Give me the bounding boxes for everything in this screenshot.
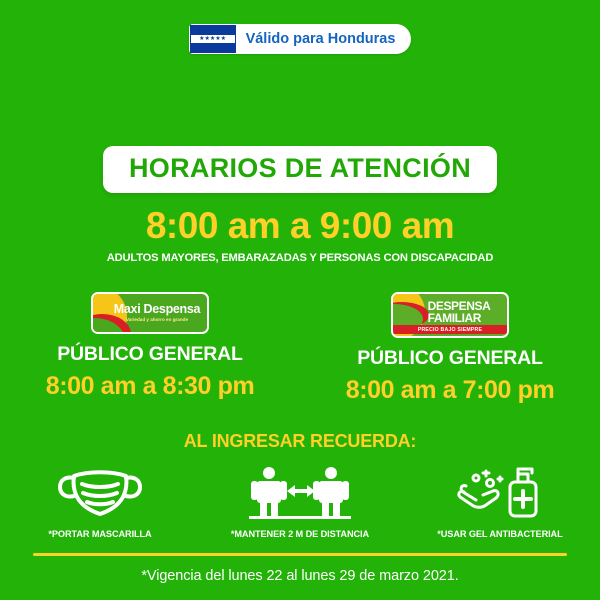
- priority-subtitle: ADULTOS MAYORES, EMBARAZADAS Y PERSONAS …: [0, 252, 600, 264]
- flag-band-top: [191, 26, 235, 35]
- priority-hours: 8:00 am a 9:00 am: [0, 206, 600, 247]
- page-title-pill: HORARIOS DE ATENCIÓN: [103, 146, 497, 193]
- store-despensa-familiar: DESPENSA FAMILIAR PRECIO BAJO SIEMPRE PÚ…: [300, 292, 600, 403]
- remember-title: AL INGRESAR RECUERDA:: [0, 431, 600, 452]
- df-line-2: FAMILIAR: [428, 313, 491, 325]
- maxi-despensa-name: Maxi Despensa: [114, 303, 200, 316]
- store-hours-maxi: 8:00 am a 8:30 pm: [46, 374, 255, 399]
- page-title: HORARIOS DE ATENCIÓN: [129, 155, 471, 182]
- footer-validity-note: *Vigencia del lunes 22 al lunes 29 de ma…: [0, 568, 600, 584]
- stores-row: Maxi Despensa Variedad y ahorro en grand…: [0, 292, 600, 403]
- reminder-caption-distance: *MANTENER 2 M DE DISTANCIA: [231, 529, 369, 539]
- reminder-item-mask: *PORTAR MASCARILLA: [0, 463, 200, 539]
- maxi-despensa-tagline: Variedad y ahorro en grande: [126, 318, 188, 323]
- honduras-badge-row: ★★★★★ Válido para Honduras: [0, 24, 600, 54]
- badge-label: Válido para Honduras: [246, 31, 396, 47]
- face-mask-icon: [54, 463, 146, 521]
- flag-band-bottom: [191, 43, 235, 52]
- reminder-item-distance: *MANTENER 2 M DE DISTANCIA: [200, 463, 400, 539]
- flag-stars: ★★★★★: [191, 35, 235, 44]
- footer-divider: [33, 553, 567, 556]
- maxi-despensa-logo: Maxi Despensa Variedad y ahorro en grand…: [91, 292, 209, 334]
- df-price-banner: PRECIO BAJO SIEMPRE: [393, 325, 507, 334]
- reminder-caption-sanitizer: *USAR GEL ANTIBACTERIAL: [437, 529, 562, 539]
- store-maxi-despensa: Maxi Despensa Variedad y ahorro en grand…: [0, 292, 300, 403]
- reminder-icons-row: *PORTAR MASCARILLA: [0, 463, 600, 539]
- store-label-despensa: PÚBLICO GENERAL: [357, 349, 543, 369]
- store-label-maxi: PÚBLICO GENERAL: [57, 345, 243, 365]
- reminder-item-sanitizer: *USAR GEL ANTIBACTERIAL: [400, 463, 600, 539]
- honduras-badge: ★★★★★ Válido para Honduras: [189, 24, 412, 54]
- store-hours-despensa: 8:00 am a 7:00 pm: [346, 378, 555, 403]
- despensa-familiar-logo: DESPENSA FAMILIAR PRECIO BAJO SIEMPRE: [391, 292, 509, 338]
- despensa-familiar-wordmark: DESPENSA FAMILIAR: [428, 301, 491, 325]
- social-distance-icon: [243, 463, 357, 521]
- honduras-flag-icon: ★★★★★: [190, 25, 236, 53]
- reminder-caption-mask: *PORTAR MASCARILLA: [48, 529, 151, 539]
- hand-sanitizer-icon: [450, 463, 550, 521]
